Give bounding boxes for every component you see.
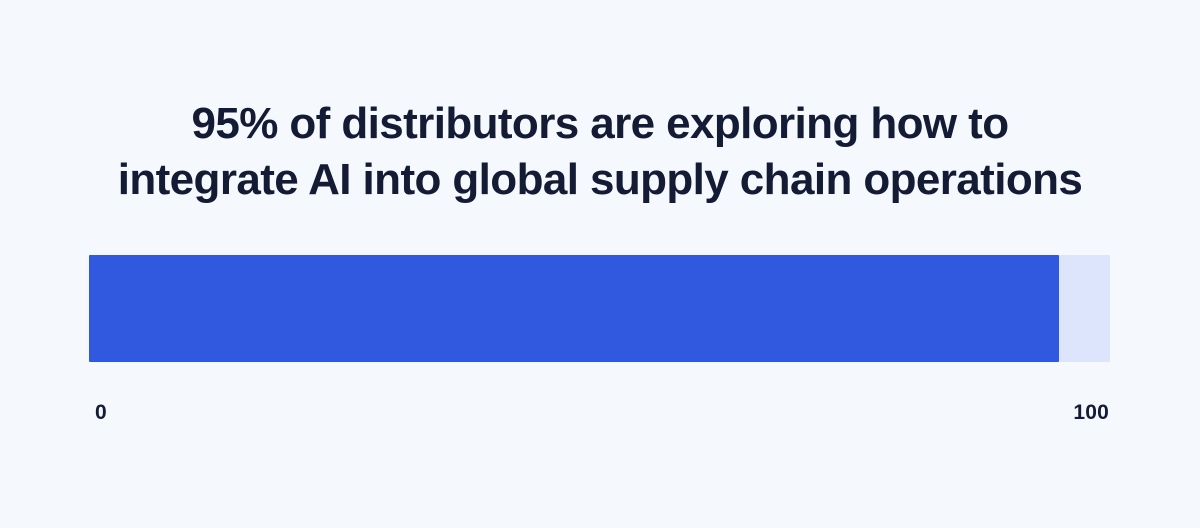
bar-track <box>89 255 1110 362</box>
chart-title: 95% of distributors are exploring how to… <box>0 96 1200 208</box>
axis-tick-min: 0 <box>89 400 107 426</box>
bar-fill <box>89 255 1059 362</box>
stat-bar-figure: 95% of distributors are exploring how to… <box>0 0 1200 528</box>
bar-chart <box>89 255 1110 362</box>
x-axis: 0 100 <box>89 400 1110 430</box>
axis-tick-max: 100 <box>1073 400 1110 426</box>
